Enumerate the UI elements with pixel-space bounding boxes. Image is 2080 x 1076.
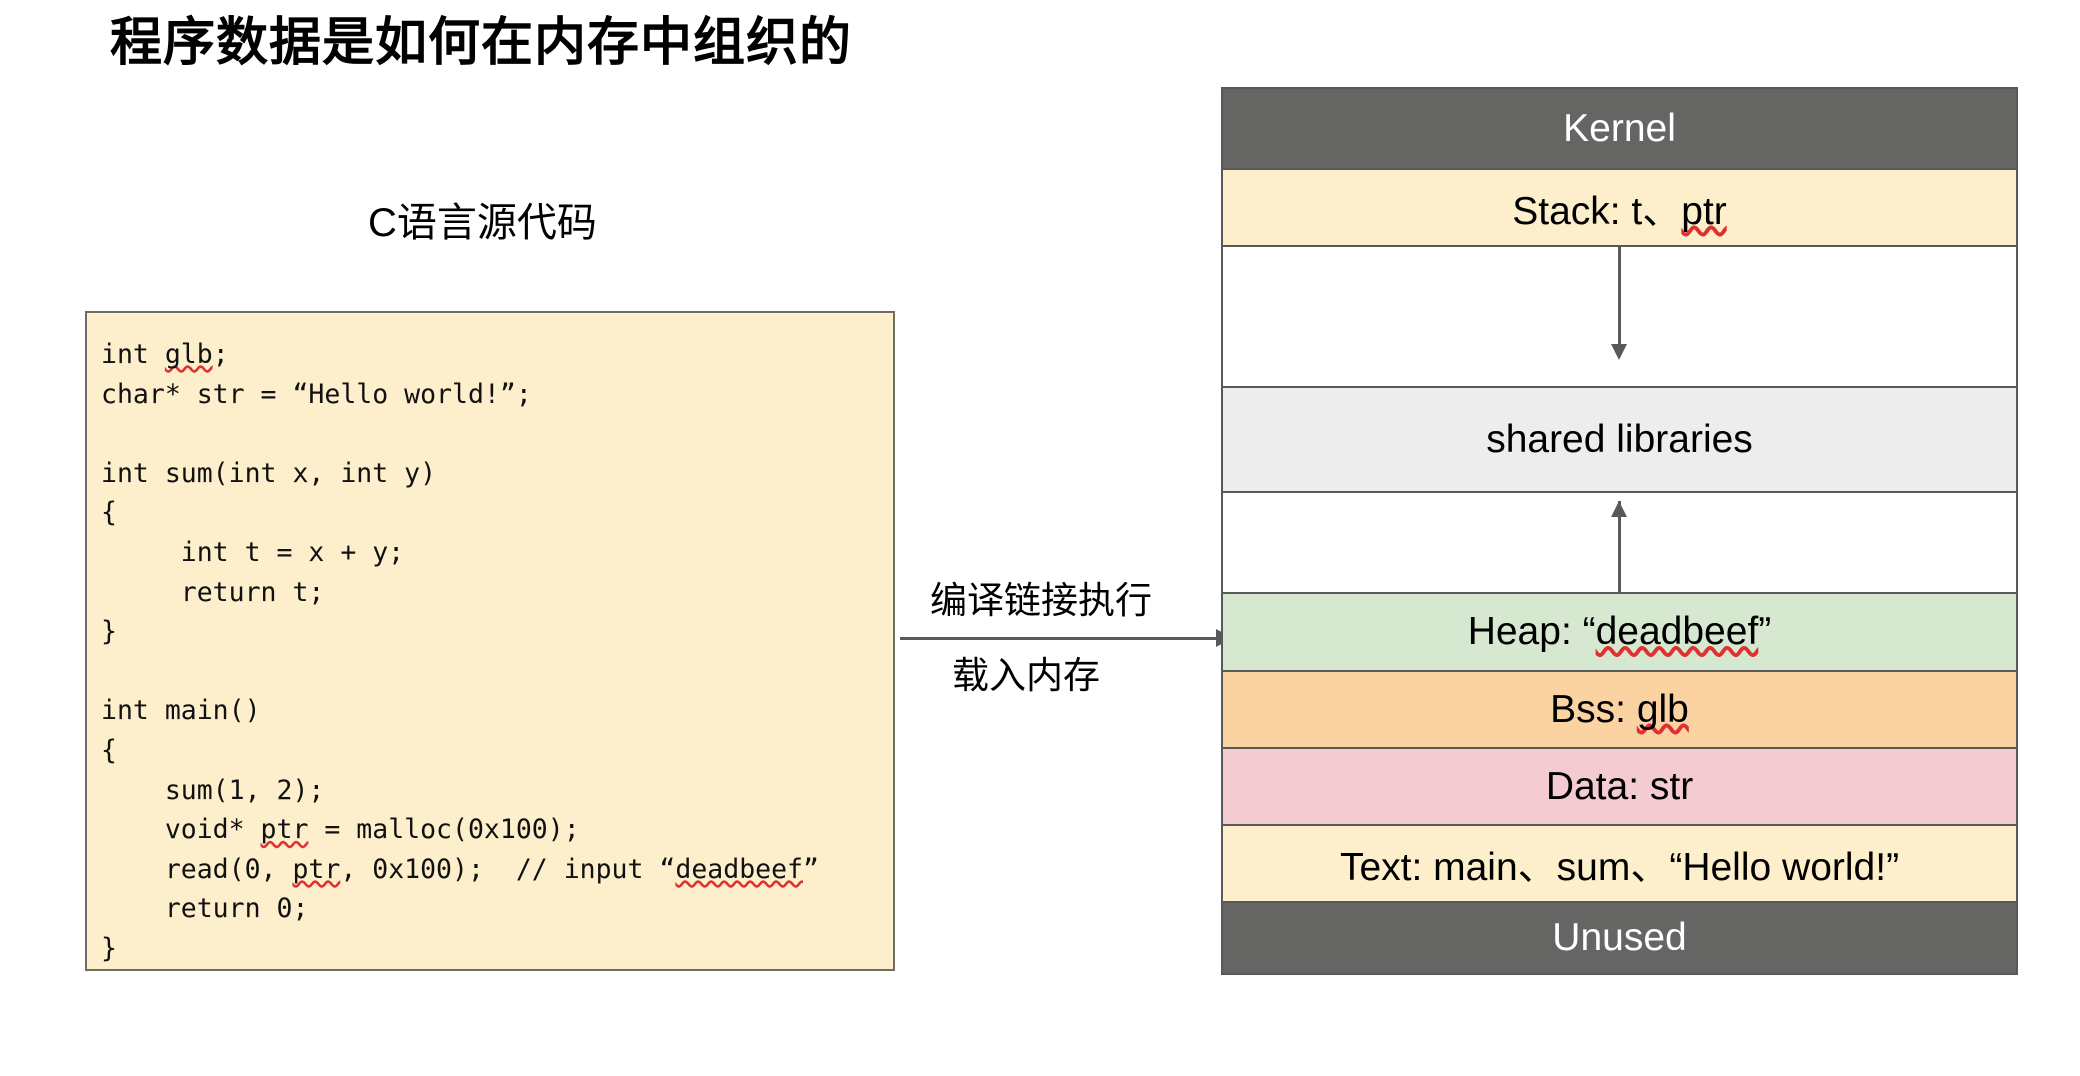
memory-block-stack-t-ptr: Stack: t、ptr [1221,168,2018,247]
memory-block-label: Kernel [1563,107,1676,151]
spellcheck-token: glb [1637,688,1689,731]
memory-block-label: Bss: glb [1550,688,1689,732]
memory-block-label: shared libraries [1486,418,1753,462]
memory-block-bss-glb: Bss: glb [1221,670,2018,749]
flow-arrow-line [900,637,1224,640]
memory-block-shared-libraries: shared libraries [1221,386,2018,493]
spellcheck-token: glb [165,339,213,370]
spellcheck-token: ptr [1681,190,1727,233]
flow-label-bottom: 载入内存 [952,645,1100,699]
spellcheck-token: ptr [261,814,309,845]
spellcheck-token: deadbeef [1596,610,1759,653]
page-title: 程序数据是如何在内存中组织的 [110,14,852,74]
compile-flow-arrow: 编译链接执行 载入内存 [900,570,1230,710]
flow-label-top: 编译链接执行 [930,570,1152,624]
memory-block-heap-deadbeef: Heap: “deadbeef” [1221,592,2018,672]
memory-block-white-gap [1221,491,2018,594]
memory-block-text-main-sum-hello-world: Text: main、sum、“Hello world!” [1221,824,2018,903]
source-code-panel: int glb; char* str = “Hello world!”; int… [85,311,895,971]
stack-growth-arrow-line [1618,247,1621,346]
memory-block-label: Data: str [1546,765,1693,809]
memory-block-label: Stack: t、ptr [1512,180,1727,236]
memory-block-kernel: Kernel [1221,87,2018,170]
memory-block-label: Text: main、sum、“Hello world!” [1340,836,1899,892]
code-listing: int glb; char* str = “Hello world!”; int… [87,313,893,969]
spellcheck-token: ptr [292,854,340,885]
memory-block-white-gap [1221,245,2018,388]
arrow-up-icon [1611,501,1627,517]
memory-block-unused: Unused [1221,901,2018,975]
memory-block-label: Heap: “deadbeef” [1468,610,1772,654]
memory-block-data-str: Data: str [1221,747,2018,826]
source-code-heading: C语言源代码 [368,190,597,248]
spellcheck-token: deadbeef [675,854,803,885]
arrow-down-icon [1611,344,1627,360]
memory-block-label: Unused [1552,916,1686,960]
memory-layout-diagram: KernelStack: t、ptrshared librariesHeap: … [1221,87,2018,1033]
